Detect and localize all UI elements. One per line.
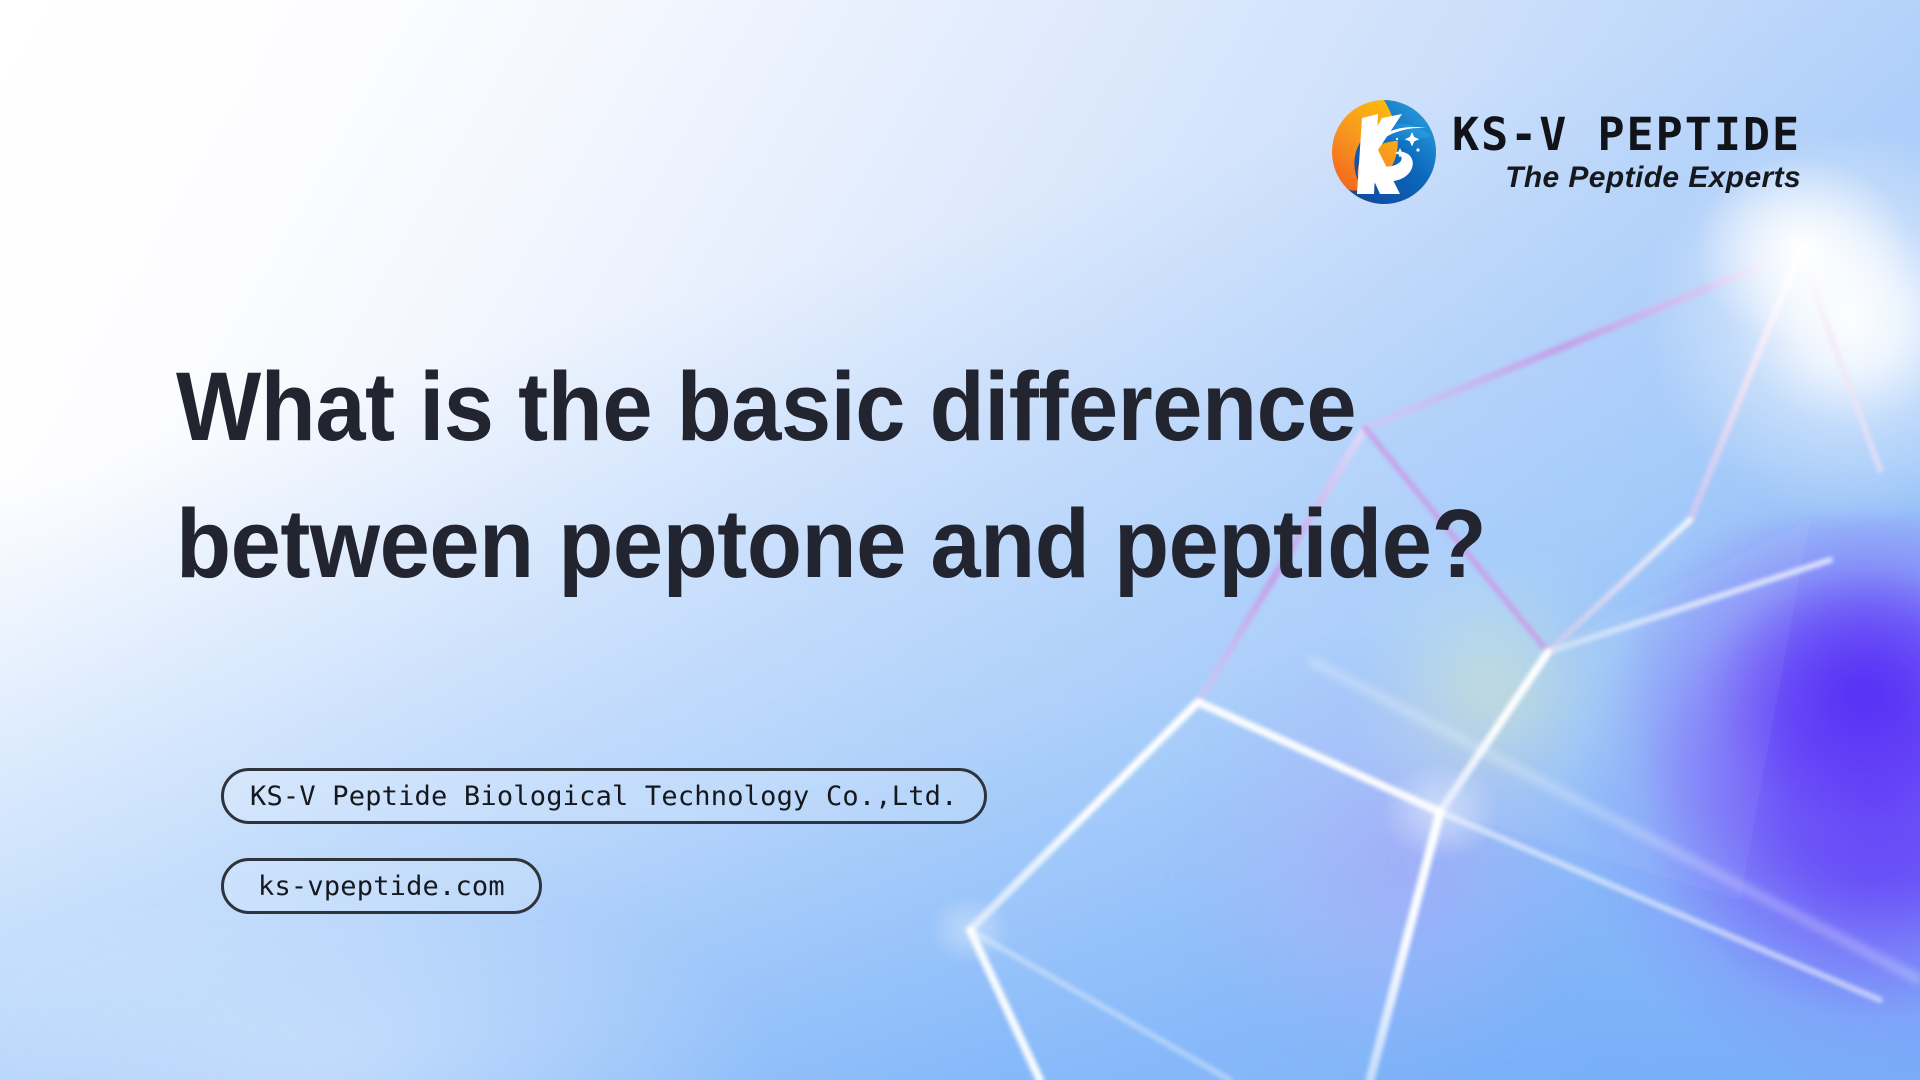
logo-wordmark: KS-V PEPTIDE	[1452, 112, 1801, 157]
page-title-line-1: What is the basic difference	[176, 352, 1356, 461]
pill-row-website: ks-vpeptide.com	[221, 824, 987, 914]
website-url-pill[interactable]: ks-vpeptide.com	[221, 858, 542, 914]
page-title-line-2: between peptone and peptide?	[176, 475, 1701, 612]
ks-v-circular-logo-icon	[1330, 98, 1438, 206]
info-pill-group: KS-V Peptide Biological Technology Co.,L…	[221, 768, 987, 914]
logo-text-block: KS-V PEPTIDE The Peptide Experts	[1452, 112, 1801, 193]
poster-canvas: KS-V PEPTIDE The Peptide Experts What is…	[0, 0, 1920, 1080]
page-title: What is the basic difference between pep…	[176, 338, 1701, 612]
company-name-pill[interactable]: KS-V Peptide Biological Technology Co.,L…	[221, 768, 987, 824]
brand-logo[interactable]: KS-V PEPTIDE The Peptide Experts	[1330, 98, 1801, 206]
pill-row-company: KS-V Peptide Biological Technology Co.,L…	[221, 768, 987, 824]
logo-tagline: The Peptide Experts	[1452, 163, 1801, 193]
